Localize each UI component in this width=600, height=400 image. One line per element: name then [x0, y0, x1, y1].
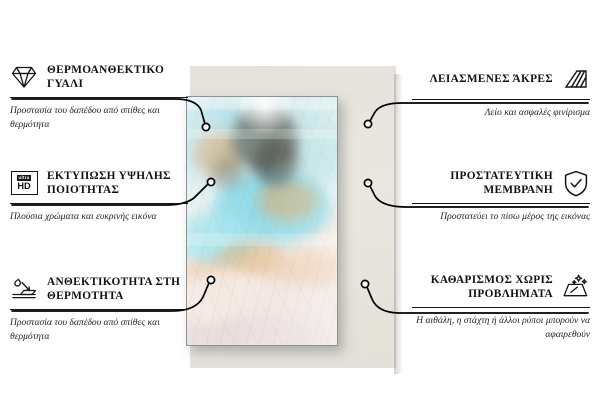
feature-title: ΕΚΤΥΠΩΣΗ ΥΨΗΛΗΣ ΠΟΙΟΤΗΤΑΣ — [47, 169, 188, 197]
divider — [10, 203, 188, 204]
wall-panel-shadow — [394, 74, 403, 374]
shield-check-icon — [562, 169, 590, 197]
feature-heat-resistance: ΑΝΘΕΚΤΙΚΟΤΗΤΑ ΣΤΗ ΘΕΡΜΟΤΗΤΑ Προστασία το… — [10, 274, 188, 343]
divider — [412, 99, 590, 100]
diamond-icon — [10, 63, 38, 91]
feature-polished-edges: ΛΕΙΑΣΜΕΝΕΣ ΆΚΡΕΣ Λείο και ασφαλές φινίρι… — [412, 64, 590, 120]
feature-title: ΛΕΙΑΣΜΕΝΕΣ ΆΚΡΕΣ — [430, 72, 553, 86]
feature-infographic: ΘΕΡΜΟΑΝΘΕΚΤΙΚΟ ΓΥΑΛΙ Προστασία του δαπέδ… — [0, 0, 600, 400]
heat-resistance-icon — [10, 275, 38, 303]
divider — [10, 97, 188, 98]
feature-heat-resistant-glass: ΘΕΡΜΟΑΝΘΕΚΤΙΚΟ ΓΥΑΛΙ Προστασία του δαπέδ… — [10, 62, 188, 131]
feature-description: Προστατεύει το πίσω μέρος της εικόνας — [412, 210, 590, 224]
feature-description: Πλούσια χρώματα και ευκρινής εικόνα — [10, 210, 188, 224]
product-scene — [168, 52, 408, 382]
divider — [412, 307, 590, 308]
feature-title: ΘΕΡΜΟΑΝΘΕΚΤΙΚΟ ΓΥΑΛΙ — [47, 63, 188, 91]
easy-cleaning-icon — [562, 273, 590, 301]
feature-high-quality-print: ultra HD ΕΚΤΥΠΩΣΗ ΥΨΗΛΗΣ ΠΟΙΟΤΗΤΑΣ Πλούσ… — [10, 168, 188, 224]
feature-title: ΑΝΘΕΚΤΙΚΟΤΗΤΑ ΣΤΗ ΘΕΡΜΟΤΗΤΑ — [47, 275, 188, 303]
feature-description: Η αιθάλη, η στάχτη ή άλλοι ρύποι μπορούν… — [412, 314, 590, 341]
polished-edges-icon — [562, 65, 590, 93]
feature-description: Προστασία του δαπέδου από σπίθες και θερ… — [10, 104, 188, 131]
feature-description: Λείο και ασφαλές φινίρισμα — [412, 106, 590, 120]
feature-title: ΚΑΘΑΡΙΣΜΟΣ ΧΩΡΙΣ ΠΡΟΒΛΗΜΑΤΑ — [412, 273, 553, 301]
feature-title: ΠΡΟΣΤΑΤΕΥΤΙΚΗ ΜΕΜΒΡΑΝΗ — [412, 169, 553, 197]
glass-glare-highlight — [233, 96, 297, 137]
feature-easy-cleaning: ΚΑΘΑΡΙΣΜΟΣ ΧΩΡΙΣ ΠΡΟΒΛΗΜΑΤΑ Η αιθάλη, η … — [412, 272, 590, 341]
feature-description: Προστασία του δαπέδου από σπίθες και θερ… — [10, 316, 188, 343]
feature-protective-film: ΠΡΟΣΤΑΤΕΥΤΙΚΗ ΜΕΜΒΡΑΝΗ Προστατεύει το πί… — [412, 168, 590, 224]
glass-splashback-image — [186, 96, 338, 346]
divider — [412, 203, 590, 204]
divider — [10, 309, 188, 310]
ultra-hd-icon: ultra HD — [10, 169, 38, 197]
